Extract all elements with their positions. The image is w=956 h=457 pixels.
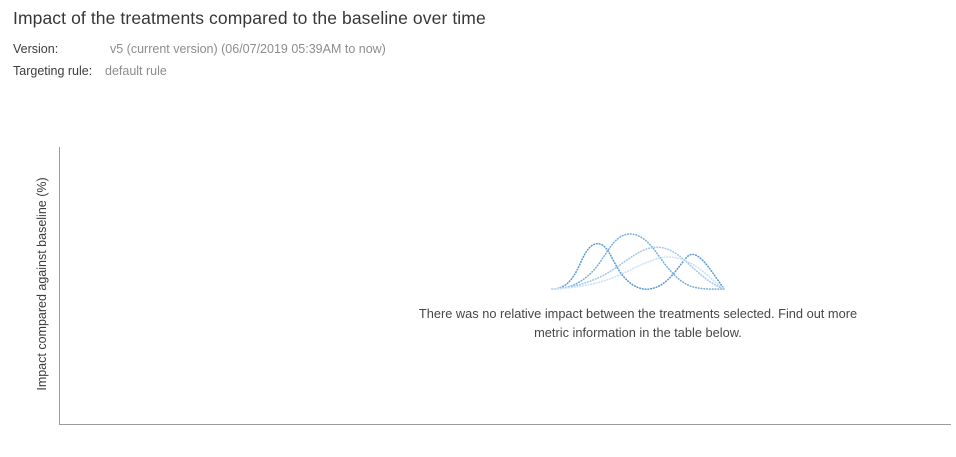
page-title: Impact of the treatments compared to the… xyxy=(13,6,933,30)
targeting-rule-value: default rule xyxy=(105,60,167,82)
targeting-rule-label: Targeting rule: xyxy=(13,60,105,82)
chart-empty-state: There was no relative impact between the… xyxy=(358,218,918,342)
chart-y-axis-line xyxy=(59,147,60,425)
version-value: v5 (current version) (06/07/2019 05:39AM… xyxy=(110,38,386,60)
targeting-rule-row: Targeting rule: default rule xyxy=(13,60,933,82)
empty-state-message: There was no relative impact between the… xyxy=(403,304,873,342)
page-header: Impact of the treatments compared to the… xyxy=(13,6,933,82)
version-row: Version: v5 (current version) (06/07/201… xyxy=(13,38,933,60)
dotted-bell-curves-icon xyxy=(550,218,726,298)
version-label: Version: xyxy=(13,38,110,60)
chart-x-axis-line xyxy=(59,424,951,425)
chart-y-axis-label: Impact compared against baseline (%) xyxy=(35,164,49,404)
